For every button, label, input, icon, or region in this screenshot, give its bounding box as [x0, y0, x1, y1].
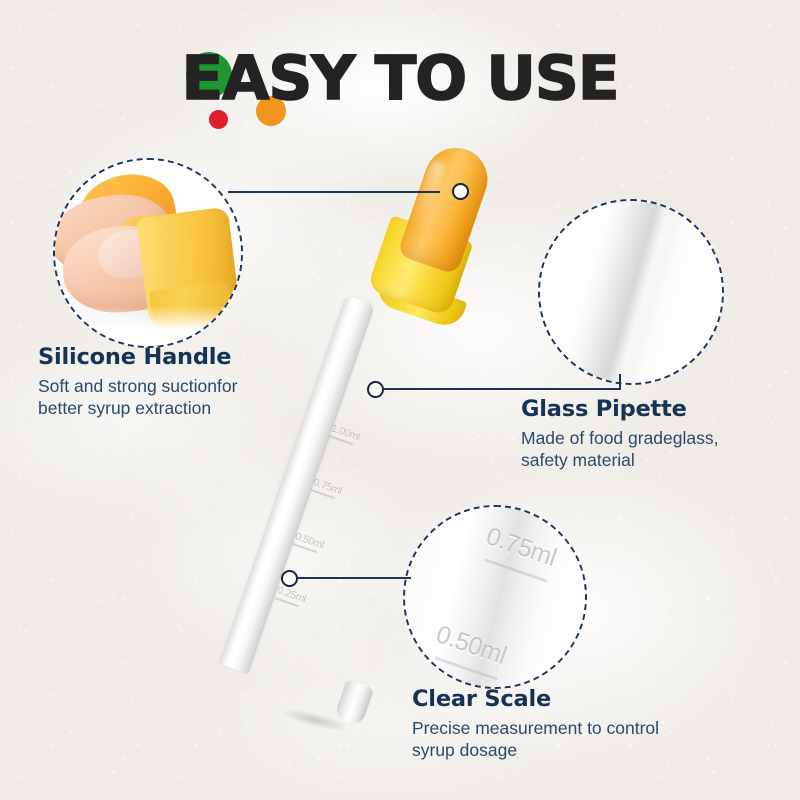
zoom-scale-label-050: 0.50ml	[432, 620, 510, 671]
callout-circle-silicone-handle	[53, 158, 243, 348]
feature-body-silicone-handle-line1: Soft and strong suctionfor	[38, 375, 338, 397]
callout-circle-clear-scale: 0.75ml 0.50ml	[403, 505, 587, 689]
callout-circle-glass-pipette	[538, 199, 724, 385]
feature-body-clear-scale-line1: Precise measurement to control	[412, 717, 732, 739]
feature-body-silicone-handle-line2: better syrup extraction	[38, 397, 338, 419]
silicone-bulb	[397, 139, 496, 275]
feature-block-glass-pipette: Glass Pipette Made of food gradeglass, s…	[521, 396, 800, 472]
connector-line-clear-scale	[298, 577, 411, 579]
zoom-scale-label-075: 0.75ml	[482, 522, 560, 573]
scale-mark-1: 1.00ml	[329, 422, 368, 448]
clear-scale-photo: 0.75ml 0.50ml	[405, 507, 585, 687]
feature-heading-glass-pipette: Glass Pipette	[521, 396, 800, 422]
infographic-canvas: EASY TO USE 1.00ml 0.75ml 0.50ml 0.25ml	[0, 0, 800, 800]
feature-block-silicone-handle: Silicone Handle Soft and strong suctionf…	[38, 344, 338, 420]
photo-backdrop-fade	[55, 306, 241, 346]
feature-block-clear-scale: Clear Scale Precise measurement to contr…	[412, 686, 732, 762]
connector-elbow-glass-pipette	[619, 374, 621, 390]
page-title: EASY TO USE	[0, 48, 800, 109]
connector-line-glass-pipette	[384, 388, 621, 390]
glass-pipette-photo	[540, 201, 722, 383]
feature-body-glass-pipette-line2: safety material	[521, 449, 800, 471]
connector-line-silicone-handle	[228, 191, 440, 193]
feature-body-glass-pipette-line1: Made of food gradeglass,	[521, 427, 800, 449]
title-area: EASY TO USE	[0, 22, 800, 114]
feature-body-clear-scale-line2: syrup dosage	[412, 739, 732, 761]
feature-heading-silicone-handle: Silicone Handle	[38, 344, 338, 370]
connector-node-glass-pipette	[367, 381, 384, 398]
feature-heading-clear-scale: Clear Scale	[412, 686, 732, 712]
scale-mark-4: 0.25ml	[275, 584, 314, 610]
connector-node-silicone-handle	[452, 183, 469, 200]
scale-mark-2: 0.75ml	[311, 476, 350, 502]
silicone-handle-photo	[55, 160, 241, 346]
connector-node-clear-scale	[281, 570, 298, 587]
glass-highlight	[597, 199, 688, 385]
scale-mark-3: 0.50ml	[293, 530, 332, 556]
